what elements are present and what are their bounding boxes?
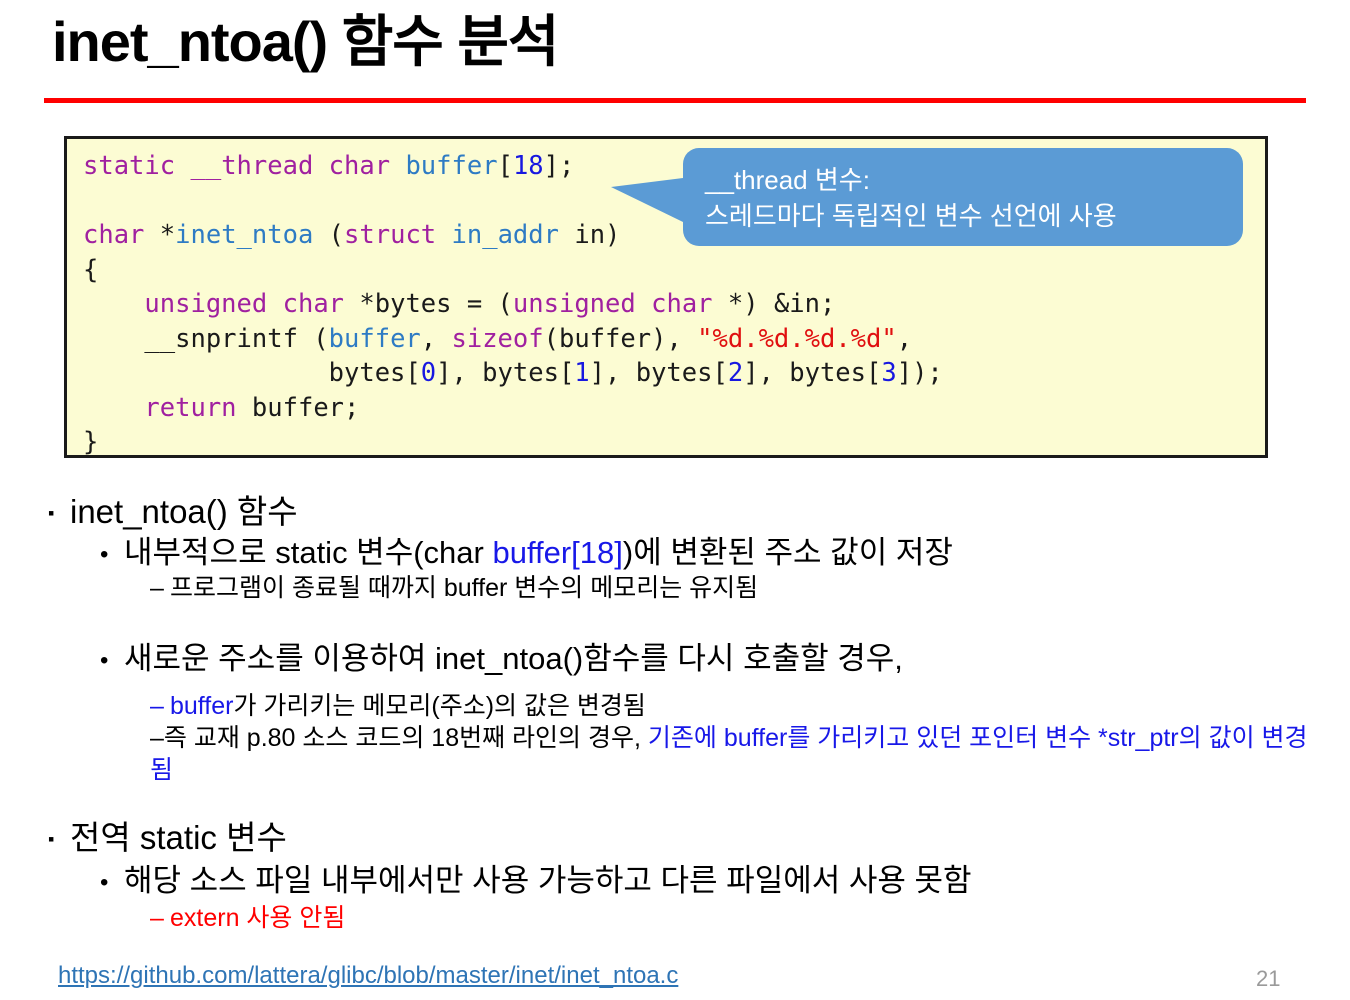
bullet-l2-post: )에 변환된 주소 값이 저장 (623, 535, 953, 570)
dot-bullet-icon: • (100, 642, 124, 680)
dot-bullet-icon: • (100, 864, 124, 902)
bullet-l3-no-extern: –extern 사용 안됨 (150, 902, 345, 934)
dot-bullet-icon: • (100, 536, 124, 574)
bullet-l3-label: extern 사용 안됨 (170, 904, 345, 932)
dash-bullet-icon: – (150, 724, 164, 752)
title-underline-rule (44, 98, 1306, 103)
bullet-l3-buffer-value-changed: –buffer가 가리키는 메모리(주소)의 값은 변경됨 (150, 690, 646, 722)
callout-thread-variable: __thread 변수: 스레드마다 독립적인 변수 선언에 사용 (683, 148, 1243, 246)
bullet-l2-file-scope-only: •해당 소스 파일 내부에서만 사용 가능하고 다른 파일에서 사용 못함 (100, 862, 972, 902)
dash-bullet-icon: – (150, 690, 170, 722)
bullet-l3-label: 프로그램이 종료될 때까지 buffer 변수의 메모리는 유지됨 (170, 574, 758, 602)
callout-pointer-tail-icon (611, 178, 683, 222)
bullet-l1-label: inet_ntoa() 함수 (70, 493, 298, 530)
bullet-l2-highlight-buffer18: buffer[18] (492, 535, 622, 570)
bullet-l2-pre: 내부적으로 static 변수(char (124, 535, 492, 570)
bullet-l3-textbook-line18: –즉 교재 p.80 소스 코드의 18번째 라인의 경우, 기존에 buffe… (150, 722, 1330, 786)
bullet-l2-recall-with-new-address: •새로운 주소를 이용하여 inet_ntoa()함수를 다시 호출할 경우, (100, 640, 903, 680)
dash-bullet-icon: – (150, 902, 170, 934)
bullet-l1-global-static-variable: ▪전역 static 변수 (48, 818, 287, 859)
square-bullet-icon: ▪ (48, 493, 70, 533)
bullet-l1-label: 전역 static 변수 (70, 819, 287, 856)
source-url-link[interactable]: https://github.com/lattera/glibc/blob/ma… (58, 962, 678, 990)
bullet-l3-pre: 즉 교재 p.80 소스 코드의 18번째 라인의 경우, (164, 724, 648, 752)
page-title: inet_ntoa() 함수 분석 (52, 10, 558, 74)
bullet-l2-static-variable-storage: •내부적으로 static 변수(char buffer[18])에 변환된 주… (100, 534, 953, 574)
page-number: 21 (1256, 966, 1280, 992)
bullet-l2-label: 새로운 주소를 이용하여 inet_ntoa()함수를 다시 호출할 경우, (124, 641, 903, 676)
square-bullet-icon: ▪ (48, 819, 70, 859)
bullet-l3-post: 가 가리키는 메모리(주소)의 값은 변경됨 (233, 692, 645, 720)
bullet-l2-label: 해당 소스 파일 내부에서만 사용 가능하고 다른 파일에서 사용 못함 (124, 863, 972, 898)
bullet-l1-inet-ntoa-function: ▪inet_ntoa() 함수 (48, 492, 298, 533)
dash-bullet-icon: – (150, 572, 170, 604)
callout-text: __thread 변수: 스레드마다 독립적인 변수 선언에 사용 (705, 162, 1233, 234)
bullet-l3-memory-retained: –프로그램이 종료될 때까지 buffer 변수의 메모리는 유지됨 (150, 572, 758, 604)
bullet-l3-highlight-buffer: buffer (170, 692, 233, 720)
